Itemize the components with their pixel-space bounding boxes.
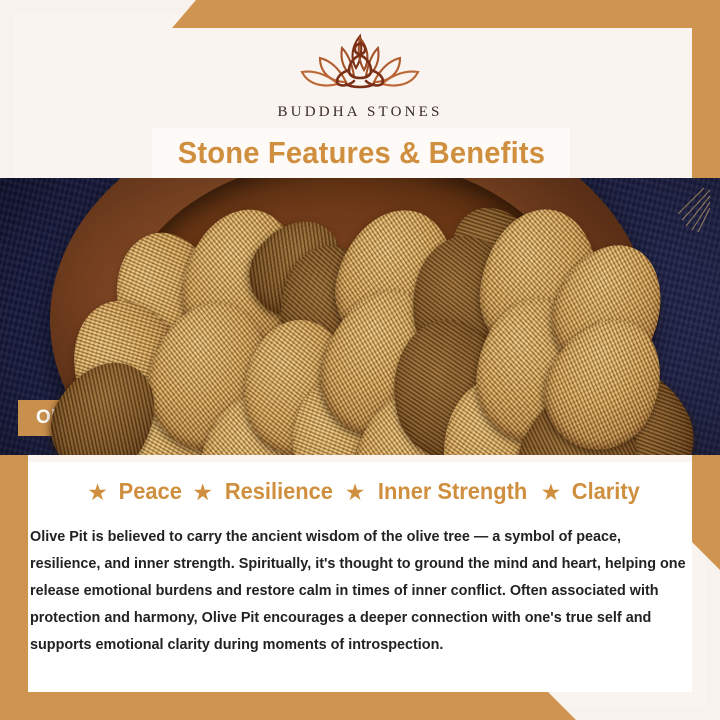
keyword-list: ★Peace★Resilience★Inner Strength★Clarity: [0, 478, 720, 505]
brand-name: BUDDHA STONES: [0, 104, 720, 121]
star-icon: ★: [87, 481, 108, 504]
star-icon: ★: [192, 481, 213, 504]
hero-image: [0, 178, 720, 455]
keyword-1: Peace: [118, 478, 181, 505]
lotus-meditation-icon: [290, 28, 430, 100]
star-icon: ★: [541, 481, 562, 504]
stone-benefits-poster: BUDDHA STONES Stone Features & Benefits …: [0, 0, 720, 720]
body-paragraph: Olive Pit is believed to carry the ancie…: [30, 524, 692, 659]
page-title: Stone Features & Benefits: [177, 135, 544, 171]
star-icon: ★: [345, 481, 366, 504]
sparkle-icon: [652, 186, 712, 246]
keyword-2: Resilience: [225, 478, 333, 505]
keyword-3: Inner Strength: [378, 478, 527, 505]
title-plate: Stone Features & Benefits: [152, 128, 570, 178]
brand-block: BUDDHA STONES: [0, 28, 720, 121]
keyword-4: Clarity: [572, 478, 640, 505]
